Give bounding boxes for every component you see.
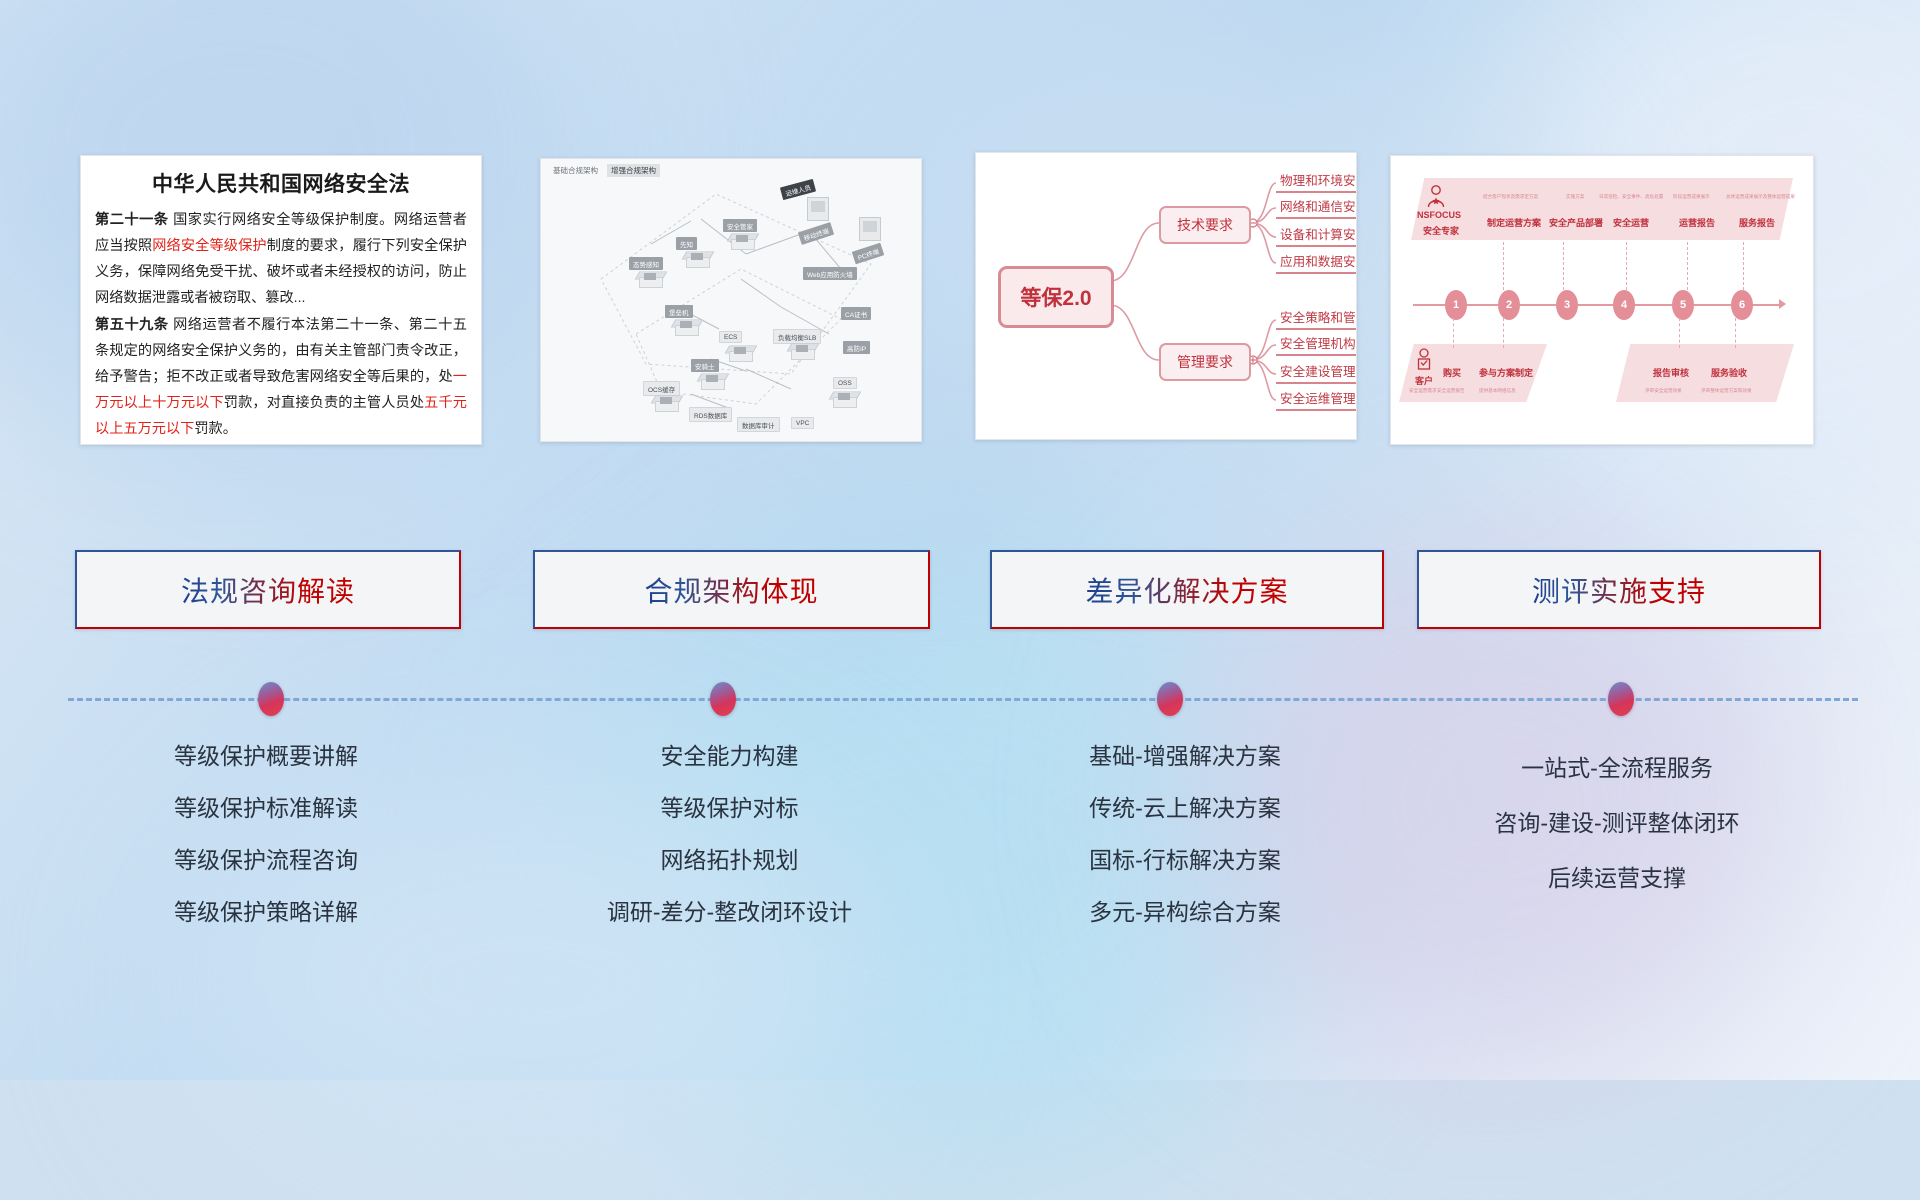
section-title-box-3[interactable]: 差异化解决方案	[990, 550, 1384, 629]
nsfocus-top-sub: 结合客户现状及需求定方案	[1483, 194, 1538, 200]
architecture-node-chip: 数据库审计	[737, 417, 780, 432]
law-article-59-text-c: 罚款。	[194, 421, 237, 437]
list-item: 等级保护概要讲解	[75, 745, 457, 768]
list-item: 等级保护流程咨询	[75, 849, 457, 872]
nsfocus-tick	[1503, 242, 1504, 290]
nsfocus-tick	[1679, 318, 1680, 348]
law-article-21-highlight: 网络安全等级保护	[152, 238, 267, 254]
timeline-dot-3	[1157, 682, 1183, 716]
nsfocus-step-dot: 1	[1445, 290, 1467, 320]
server-cube-icon	[831, 389, 857, 409]
section-list-3: 基础-增强解决方案 传统-云上解决方案 国标-行标解决方案 多元-异构综合方案	[990, 745, 1380, 953]
nsfocus-bottom-sub: 评审整体运营方案和效果	[1701, 388, 1752, 394]
law-article-59: 第五十九条 网络运营者不履行本法第二十一条、第二十五条规定的网络安全保护义务的，…	[95, 313, 467, 442]
list-item: 安全能力构建	[533, 745, 926, 768]
nsfocus-top-sub: 阶段运营成果展示	[1673, 194, 1710, 200]
nsfocus-tick	[1626, 242, 1627, 290]
mindmap-branch-technical: 技术要求	[1159, 206, 1251, 244]
architecture-diagram: 运维人员 安全管家 先知 态势感知 堡垒机 ECS 安骑士 OCS缓存 RDS数…	[541, 159, 921, 441]
mindmap-leaf: 物理和环境安全	[1276, 170, 1357, 193]
server-cube-icon	[653, 393, 679, 413]
nsfocus-tick	[1735, 318, 1736, 348]
architecture-node-chip: RDS数据库	[689, 407, 732, 422]
customer-icon	[1415, 348, 1433, 372]
law-card-body: 第二十一条 国家实行网络安全等级保护制度。网络运营者应当按照网络安全等级保护制度…	[81, 208, 481, 443]
mindmap-leaf: 网络和通信安全	[1276, 196, 1357, 219]
list-item: 基础-增强解决方案	[990, 745, 1380, 768]
architecture-node-chip: VPC	[791, 417, 814, 429]
nsfocus-axis	[1413, 304, 1781, 306]
section-list-4: 一站式-全流程服务 咨询-建设-测评整体闭环 后续运营支撑	[1417, 757, 1817, 922]
nsfocus-bottom-main: 购买	[1443, 366, 1461, 379]
section-title-3: 差异化解决方案	[1085, 570, 1288, 610]
list-item: 等级保护对标	[533, 797, 926, 820]
mindmap-leaf: 设备和计算安全	[1276, 224, 1357, 247]
nsfocus-bottom-main: 参与方案制定	[1479, 366, 1533, 379]
nsfocus-tick	[1743, 242, 1744, 290]
list-item: 网络拓扑规划	[533, 849, 926, 872]
server-cube-icon	[699, 371, 725, 391]
timeline-dot-1	[258, 682, 284, 716]
list-item: 后续运营支撑	[1417, 867, 1817, 890]
section-title-2: 合规架构体现	[644, 570, 818, 610]
architecture-node-chip: 移动终端	[798, 222, 834, 245]
architecture-node-chip: OSS	[833, 377, 857, 389]
nsfocus-brand: NSFOCUS	[1417, 210, 1461, 220]
server-cube-icon	[789, 341, 815, 361]
law-card-title: 中华人民共和国网络安全法	[81, 168, 481, 198]
list-item: 国标-行标解决方案	[990, 849, 1380, 872]
security-expert-icon	[1425, 184, 1447, 208]
nsfocus-bottom-sub: 提供基本网络信息	[1479, 388, 1516, 394]
nsfocus-top-main: 安全产品部署	[1549, 216, 1603, 229]
nsfocus-axis-arrow	[1779, 299, 1786, 309]
nsfocus-bottom-sub: 评审安全运营效果	[1645, 388, 1682, 394]
nsfocus-customer-role: 客户	[1415, 374, 1433, 387]
server-cube-icon	[729, 231, 755, 251]
list-item: 传统-云上解决方案	[990, 797, 1380, 820]
server-cube-icon	[637, 269, 663, 289]
law-article-59-label: 第五十九条	[95, 317, 169, 333]
law-card: 中华人民共和国网络安全法 第二十一条 国家实行网络安全等级保护制度。网络运营者应…	[80, 155, 482, 445]
mindmap-card: 等保2.0 技术要求 管理要求 物理和环境安全 网络和通信安全 设备和计算安全 …	[975, 152, 1357, 440]
section-title-box-4[interactable]: 测评实施支持	[1417, 550, 1821, 629]
nsfocus-step-dot: 5	[1672, 290, 1694, 320]
server-cube-icon	[727, 343, 753, 363]
section-list-1: 等级保护概要讲解 等级保护标准解读 等级保护流程咨询 等级保护策略详解	[75, 745, 457, 953]
nsfocus-top-band	[1411, 178, 1793, 240]
section-title-box-1[interactable]: 法规咨询解读	[75, 550, 461, 629]
nsfocus-top-main: 运营报告	[1679, 216, 1715, 229]
nsfocus-bottom-sub: 安全运营报告	[1437, 388, 1465, 394]
list-item: 调研-差分-整改闭环设计	[533, 901, 926, 924]
server-cube-icon	[684, 249, 710, 269]
mindmap-leaf: 安全策略和管理制度	[1276, 307, 1357, 330]
server-cube-icon	[673, 317, 699, 337]
architecture-node-chip: ECS	[719, 331, 742, 343]
nsfocus-top-sub: 日常巡检、安全事件、高危处置	[1599, 194, 1663, 200]
nsfocus-step-dot: 2	[1498, 290, 1520, 320]
list-item: 等级保护标准解读	[75, 797, 457, 820]
monitor-icon	[859, 217, 881, 241]
mindmap-root-node: 等保2.0	[998, 266, 1114, 328]
nsfocus-timeline-card: NSFOCUS 安全专家 结合客户现状及需求定方案 制定运营方案 实施方案 安全…	[1390, 155, 1814, 445]
nsfocus-top-main: 安全运营	[1613, 216, 1649, 229]
mindmap-leaf: 应用和数据安全	[1276, 251, 1357, 274]
list-item: 咨询-建设-测评整体闭环	[1417, 812, 1817, 835]
law-article-59-text-b: 罚款，对直接负责的主管人员处	[224, 395, 424, 411]
mindmap-leaf: 安全管理机构和人员	[1276, 333, 1357, 356]
architecture-node-chip: Web应用防火墙	[803, 267, 857, 280]
architecture-card: 基础合规架构 增强合规架构 运维人员 安全管家 先知 态势感知 堡垒机 ECS	[540, 158, 922, 442]
nsfocus-tick	[1503, 318, 1504, 348]
nsfocus-bottom-main: 报告审核	[1653, 366, 1689, 379]
architecture-node-chip: PC终端	[852, 243, 885, 265]
nsfocus-customer-sub: 安全运营需求	[1409, 388, 1437, 394]
nsfocus-step-dot: 4	[1613, 290, 1635, 320]
list-item: 等级保护策略详解	[75, 901, 457, 924]
nsfocus-tick	[1563, 242, 1564, 290]
mindmap-leaf: 安全运维管理	[1276, 388, 1357, 411]
timeline-track	[68, 698, 1858, 701]
architecture-connectors	[541, 159, 921, 441]
section-title-box-2[interactable]: 合规架构体现	[533, 550, 930, 629]
nsfocus-tick	[1687, 242, 1688, 290]
law-article-21: 第二十一条 国家实行网络安全等级保护制度。网络运营者应当按照网络安全等级保护制度…	[95, 208, 467, 311]
timeline-dot-2	[710, 682, 736, 716]
nsfocus-step-dot: 6	[1731, 290, 1753, 320]
list-item: 多元-异构综合方案	[990, 901, 1380, 924]
nsfocus-top-sub: 实施方案	[1566, 194, 1584, 200]
nsfocus-brand-role: 安全专家	[1423, 224, 1459, 237]
nsfocus-step-dot: 3	[1556, 290, 1578, 320]
law-article-21-label: 第二十一条	[95, 212, 169, 228]
architecture-node-chip: 高防IP	[843, 341, 870, 354]
architecture-node-chip: CA证书	[841, 307, 871, 320]
list-item: 一站式-全流程服务	[1417, 757, 1817, 780]
mindmap-leaf: 安全建设管理	[1276, 361, 1357, 384]
section-title-4: 测评实施支持	[1532, 570, 1706, 610]
nsfocus-top-main: 服务报告	[1739, 216, 1775, 229]
section-list-2: 安全能力构建 等级保护对标 网络拓扑规划 调研-差分-整改闭环设计	[533, 745, 926, 953]
monitor-icon	[807, 197, 829, 221]
nsfocus-tick	[1453, 318, 1454, 348]
nsfocus-top-main: 制定运营方案	[1487, 216, 1541, 229]
timeline-dot-4	[1608, 682, 1634, 716]
nsfocus-top-sub: 总体运营成果展示及整体运营成果	[1726, 194, 1795, 200]
nsfocus-bottom-main: 服务验收	[1711, 366, 1747, 379]
section-title-1: 法规咨询解读	[181, 570, 355, 610]
mindmap-branch-management: 管理要求	[1159, 343, 1251, 381]
